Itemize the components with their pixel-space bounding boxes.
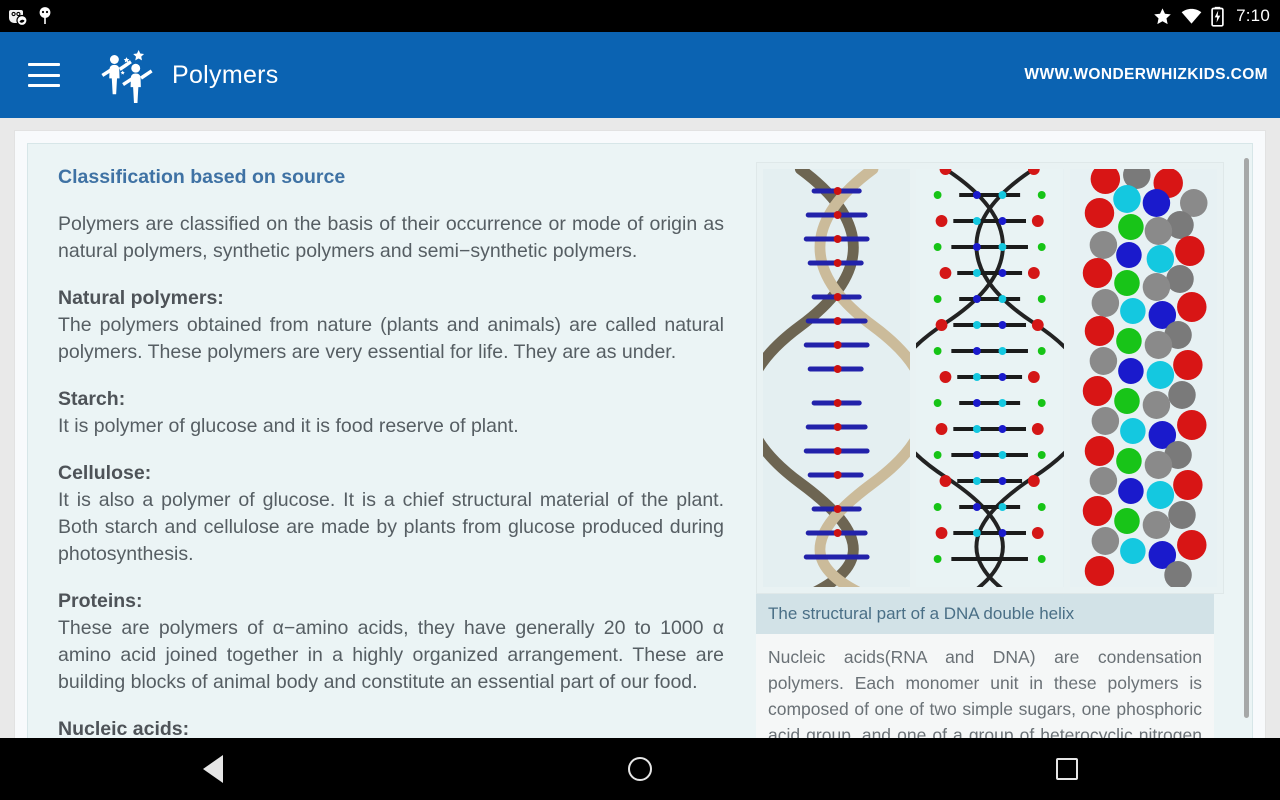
section-label: Proteins: xyxy=(58,588,742,615)
figure-description: Nucleic acids(RNA and DNA) are condensat… xyxy=(756,634,1214,738)
intro-block: Polymers are classified on the basis of … xyxy=(58,211,742,265)
section-block: Proteins: These are polymers of α−amino … xyxy=(58,588,742,696)
dna-space-filling-model-image xyxy=(1070,169,1217,587)
status-clock: 7:10 xyxy=(1236,6,1270,26)
figure-images xyxy=(763,169,1217,587)
wonderwhizkids-logo xyxy=(96,44,158,106)
intro-paragraph: Polymers are classified on the basis of … xyxy=(58,211,724,265)
section-text: The polymers obtained from nature (plant… xyxy=(58,312,724,366)
content-card: Classification based on source Polymers … xyxy=(14,130,1266,749)
article-figure-column: The structural part of a DNA double heli… xyxy=(742,144,1228,742)
section-heading: Classification based on source xyxy=(58,166,742,189)
hamburger-menu-icon[interactable] xyxy=(28,63,60,87)
device-screen: 7:10 Polymers WWW.WONDERWHIZKIDS.COM xyxy=(0,0,1280,800)
recents-icon xyxy=(1056,758,1078,780)
section-text: It is also a polymer of glucose. It is a… xyxy=(58,487,724,568)
article-text-column: Classification based on source Polymers … xyxy=(28,144,742,742)
section-text: These are polymers of α−amino acids, the… xyxy=(58,615,724,696)
site-url-label: WWW.WONDERWHIZKIDS.COM xyxy=(1024,66,1268,84)
notification-alert-icon xyxy=(38,6,52,26)
wifi-icon xyxy=(1181,7,1202,26)
figure-caption: The structural part of a DNA double heli… xyxy=(756,594,1214,634)
app-bar: Polymers WWW.WONDERWHIZKIDS.COM xyxy=(0,32,1280,118)
nav-back-button[interactable] xyxy=(0,755,427,783)
section-label: Cellulose: xyxy=(58,460,742,487)
page-title: Polymers xyxy=(172,61,279,90)
back-icon xyxy=(203,755,223,783)
nav-home-button[interactable] xyxy=(427,757,854,781)
section-block: Cellulose: It is also a polymer of gluco… xyxy=(58,460,742,568)
content-area: Classification based on source Polymers … xyxy=(0,118,1280,738)
star-icon xyxy=(1153,7,1172,26)
dna-ribbon-model-image xyxy=(763,169,910,587)
section-label: Starch: xyxy=(58,386,742,413)
section-block: Natural polymers: The polymers obtained … xyxy=(58,285,742,366)
status-bar: 7:10 xyxy=(0,0,1280,32)
dna-ball-and-stick-model-image xyxy=(916,169,1063,587)
android-navigation-bar xyxy=(0,738,1280,800)
section-text: It is polymer of glucose and it is food … xyxy=(58,413,724,440)
status-system-icons: 7:10 xyxy=(1153,6,1270,27)
webview-scrollbar[interactable] xyxy=(1244,158,1249,718)
notification-owl-icon xyxy=(8,6,28,26)
nav-recents-button[interactable] xyxy=(853,758,1280,780)
section-block: Starch: It is polymer of glucose and it … xyxy=(58,386,742,440)
section-label: Natural polymers: xyxy=(58,285,742,312)
home-icon xyxy=(628,757,652,781)
figure-frame xyxy=(756,162,1224,594)
battery-charging-icon xyxy=(1211,6,1224,27)
article-panel: Classification based on source Polymers … xyxy=(27,143,1253,743)
status-notification-icons xyxy=(8,6,52,26)
